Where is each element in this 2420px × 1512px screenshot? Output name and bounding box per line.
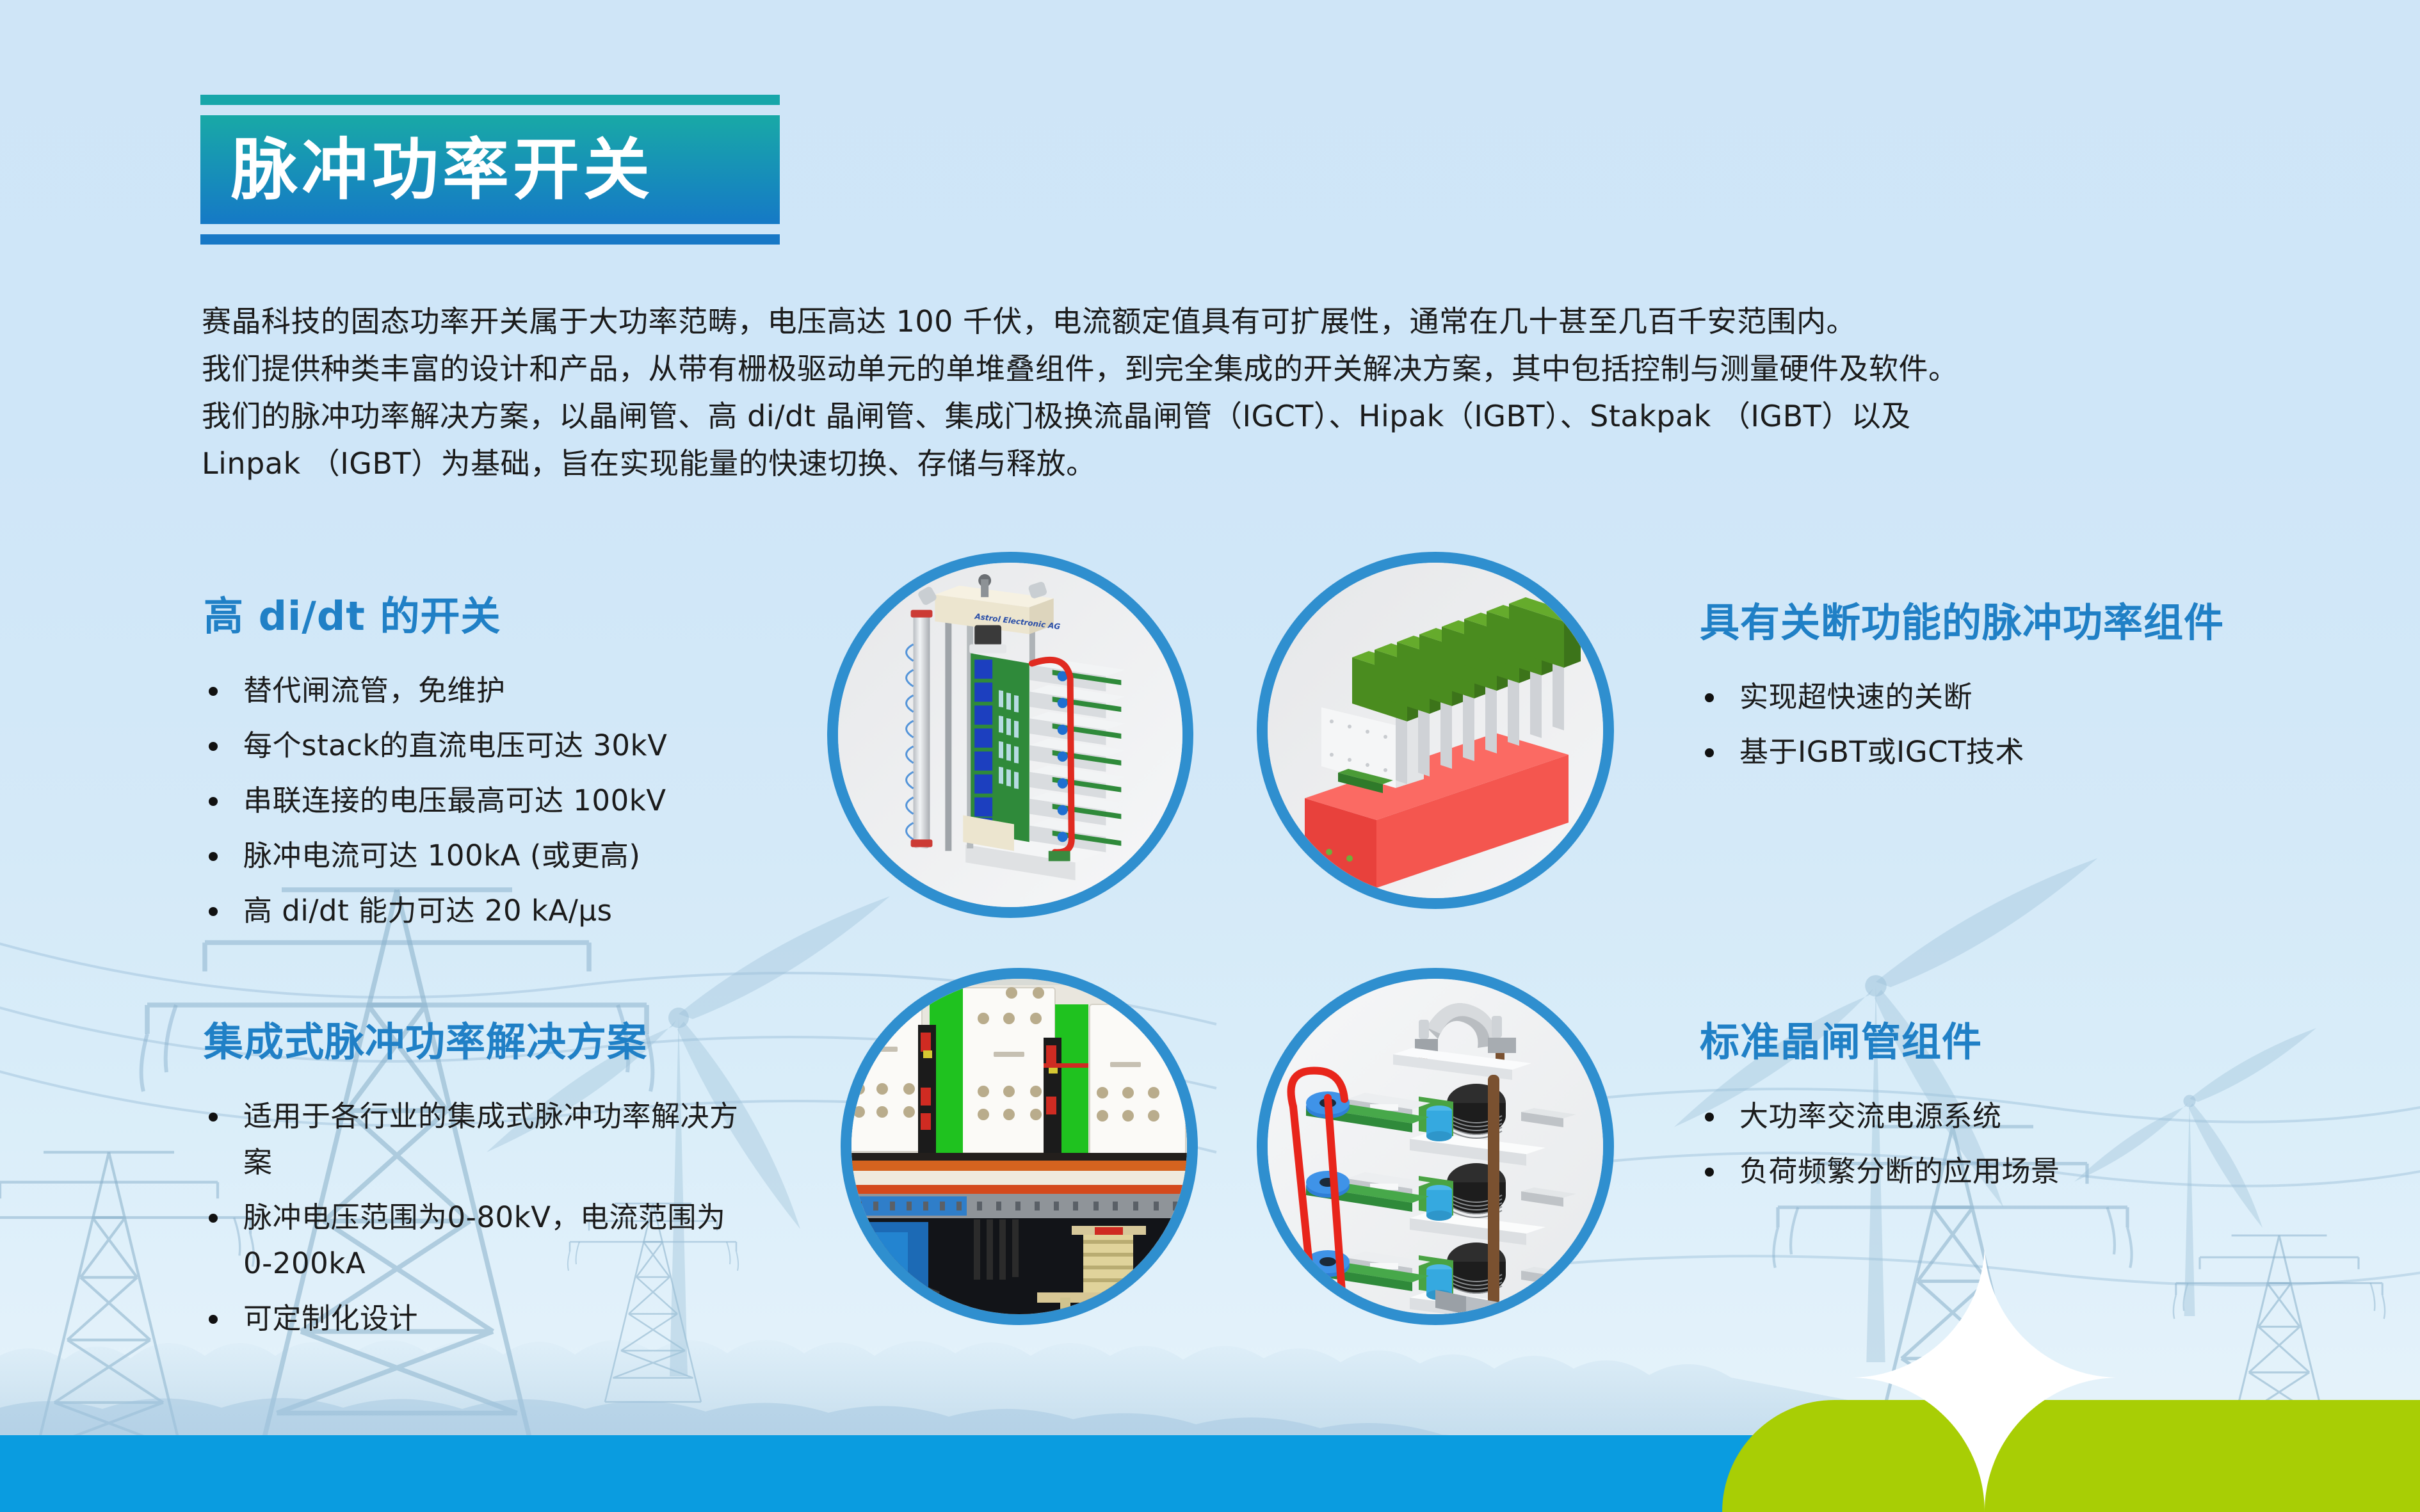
bullet-dot-icon <box>209 1113 218 1122</box>
feature-bullet-list: 适用于各行业的集成式脉冲功率解决方案 脉冲电压范围为0-80kV，电流范围为0-… <box>204 1093 754 1342</box>
intro-line-4: Linpak （IGBT）为基础，旨在实现能量的快速切换、存储与释放。 <box>202 440 2199 487</box>
title-banner: 脉冲功率开关 <box>200 115 780 224</box>
list-item: 基于IGBT或IGCT技术 <box>1700 729 2366 775</box>
feature-heading: 集成式脉冲功率解决方案 <box>204 1021 754 1063</box>
bullet-text: 适用于各行业的集成式脉冲功率解决方案 <box>243 1099 739 1179</box>
feature-standard-thyristor-assembly: 标准晶闸管组件 大功率交流电源系统 负荷频繁分断的应用场景 <box>1700 1021 2366 1203</box>
bullet-dot-icon <box>1705 693 1714 702</box>
list-item: 大功率交流电源系统 <box>1700 1093 2366 1139</box>
page-title: 脉冲功率开关 <box>231 136 654 203</box>
title-rule-top <box>200 95 780 105</box>
list-item: 可定制化设计 <box>204 1296 754 1342</box>
footer-star-decoration <box>1850 1243 2119 1512</box>
intro-paragraph: 赛晶科技的固态功率开关属于大功率范畴，电压高达 100 千伏，电流额定值具有可扩… <box>202 298 2199 487</box>
bullet-dot-icon <box>1705 1113 1714 1122</box>
bullet-text: 替代闸流管，免维护 <box>243 673 506 707</box>
product-image-thyristor-stack <box>1257 968 1614 1325</box>
list-item: 脉冲电压范围为0-80kV，电流范围为0-200kA <box>204 1194 754 1287</box>
list-item: 高 di/dt 能力可达 20 kA/μs <box>204 888 805 934</box>
bullet-text: 基于IGBT或IGCT技术 <box>1739 735 2024 769</box>
bullet-text: 每个stack的直流电压可达 30kV <box>243 728 667 762</box>
brochure-page: 脉冲功率开关 赛晶科技的固态功率开关属于大功率范畴，电压高达 100 千伏，电流… <box>0 0 2420 1512</box>
title-rule-bottom <box>200 234 780 245</box>
feature-heading: 高 di/dt 的开关 <box>204 595 805 637</box>
bullet-text: 大功率交流电源系统 <box>1739 1099 2002 1133</box>
product-image-stack-assembly: Astrol Electronic AG <box>827 552 1193 918</box>
feature-bullet-list: 实现超快速的关断 基于IGBT或IGCT技术 <box>1700 674 2366 775</box>
bullet-text: 串联连接的电压最高可达 100kV <box>243 784 666 817</box>
feature-bullet-list: 替代闸流管，免维护 每个stack的直流电压可达 30kV 串联连接的电压最高可… <box>204 668 805 934</box>
intro-line-2: 我们提供种类丰富的设计和产品，从带有栅极驱动单元的单堆叠组件，到完全集成的开关解… <box>202 345 2199 392</box>
bullet-dot-icon <box>1705 1168 1714 1177</box>
list-item: 实现超快速的关断 <box>1700 674 2366 720</box>
feature-turn-off-capable-assembly: 具有关断功能的脉冲功率组件 实现超快速的关断 基于IGBT或IGCT技术 <box>1700 602 2366 784</box>
bullet-dot-icon <box>209 797 218 806</box>
page-title-block: 脉冲功率开关 <box>200 95 780 245</box>
bullet-text: 高 di/dt 能力可达 20 kA/μs <box>243 894 613 928</box>
feature-heading: 标准晶闸管组件 <box>1700 1021 2366 1063</box>
bullet-text: 实现超快速的关断 <box>1739 680 1972 714</box>
list-item: 适用于各行业的集成式脉冲功率解决方案 <box>204 1093 754 1186</box>
feature-integrated-solution: 集成式脉冲功率解决方案 适用于各行业的集成式脉冲功率解决方案 脉冲电压范围为0-… <box>204 1021 754 1351</box>
product-image-cabinet-interior <box>841 968 1198 1325</box>
feature-high-didt-switch: 高 di/dt 的开关 替代闸流管，免维护 每个stack的直流电压可达 30k… <box>204 595 805 943</box>
list-item: 负荷频繁分断的应用场景 <box>1700 1148 2366 1194</box>
feature-heading: 具有关断功能的脉冲功率组件 <box>1700 602 2366 643</box>
bullet-dot-icon <box>209 907 218 916</box>
bullet-dot-icon <box>209 852 218 861</box>
bullet-dot-icon <box>1705 748 1714 757</box>
list-item: 每个stack的直流电压可达 30kV <box>204 723 805 769</box>
bullet-dot-icon <box>209 1214 218 1223</box>
feature-bullet-list: 大功率交流电源系统 负荷频繁分断的应用场景 <box>1700 1093 2366 1194</box>
bullet-dot-icon <box>209 742 218 751</box>
product-image-turn-off-assembly <box>1257 552 1614 909</box>
intro-line-1: 赛晶科技的固态功率开关属于大功率范畴，电压高达 100 千伏，电流额定值具有可扩… <box>202 298 2199 345</box>
list-item: 替代闸流管，免维护 <box>204 668 805 714</box>
bullet-dot-icon <box>209 1315 218 1324</box>
bullet-text: 可定制化设计 <box>243 1301 418 1335</box>
bullet-text: 负荷频繁分断的应用场景 <box>1739 1154 2060 1188</box>
intro-line-3: 我们的脉冲功率解决方案，以晶闸管、高 di/dt 晶闸管、集成门极换流晶闸管（I… <box>202 392 2199 440</box>
list-item: 串联连接的电压最高可达 100kV <box>204 778 805 824</box>
bullet-text: 脉冲电压范围为0-80kV，电流范围为0-200kA <box>243 1200 725 1280</box>
bullet-dot-icon <box>209 687 218 696</box>
bullet-text: 脉冲电流可达 100kA (或更高) <box>243 839 640 873</box>
list-item: 脉冲电流可达 100kA (或更高) <box>204 833 805 879</box>
